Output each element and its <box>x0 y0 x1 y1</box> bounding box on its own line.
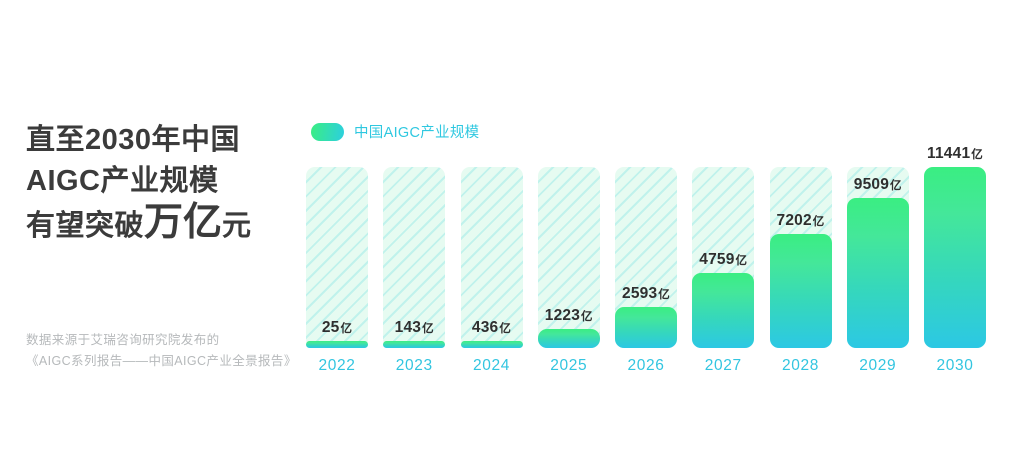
headline-line-1: 直至2030年中国 <box>26 120 291 161</box>
bar-fill[interactable] <box>461 341 523 348</box>
bar-value-label: 7202亿 <box>777 213 825 229</box>
bar-value-label: 9509亿 <box>854 177 902 193</box>
bar-value-number: 11441 <box>927 145 970 162</box>
headline-line-3: 有望突破 万亿 元 <box>26 202 291 247</box>
bar-value-number: 143 <box>395 319 421 336</box>
bar-group[interactable]: 436亿2024 <box>461 167 523 348</box>
bar-fill[interactable] <box>770 234 832 348</box>
bar-value-unit: 亿 <box>499 323 511 335</box>
bar-group[interactable]: 25亿2022 <box>306 167 368 348</box>
headline-block: 直至2030年中国 AIGC产业规模 有望突破 万亿 元 <box>26 120 291 247</box>
legend-label: 中国AIGC产业规模 <box>354 121 479 142</box>
bar-value-unit: 亿 <box>971 149 983 161</box>
bar-value-number: 4759 <box>699 251 734 268</box>
bar-value-label: 11441亿 <box>927 146 983 162</box>
bar-group[interactable]: 7202亿2028 <box>770 167 832 348</box>
headline-emphasis: 万亿 <box>144 202 222 243</box>
bar-value-unit: 亿 <box>658 289 670 301</box>
legend-swatch-icon <box>311 123 344 141</box>
bar-value-number: 9509 <box>854 176 889 193</box>
bar-year-label: 2029 <box>859 357 896 375</box>
bar-group[interactable]: 11441亿2030 <box>924 167 986 348</box>
bar-group[interactable]: 9509亿2029 <box>847 167 909 348</box>
source-line-2: 《AIGC系列报告——中国AIGC产业全景报告》 <box>26 351 316 372</box>
bar-year-label: 2030 <box>937 357 974 375</box>
bar-value-label: 436亿 <box>472 320 511 336</box>
source-line-1: 数据来源于艾瑞咨询研究院发布的 <box>26 330 316 351</box>
chart-legend[interactable]: 中国AIGC产业规模 <box>311 121 479 142</box>
bar-value-label: 25亿 <box>322 320 352 336</box>
bar-fill[interactable] <box>383 341 445 348</box>
bar-fill[interactable] <box>924 167 986 348</box>
bar-fill[interactable] <box>538 329 600 348</box>
bar-year-label: 2026 <box>628 357 665 375</box>
bar-value-label: 4759亿 <box>699 252 747 268</box>
bar-group[interactable]: 2593亿2026 <box>615 167 677 348</box>
headline-suffix: 元 <box>222 206 252 247</box>
bar-year-label: 2027 <box>705 357 742 375</box>
bar-group[interactable]: 143亿2023 <box>383 167 445 348</box>
source-note: 数据来源于艾瑞咨询研究院发布的 《AIGC系列报告——中国AIGC产业全景报告》 <box>26 330 316 372</box>
bar-value-unit: 亿 <box>736 255 748 267</box>
headline-prefix: 有望突破 <box>26 206 144 247</box>
bar-fill[interactable] <box>847 198 909 348</box>
bar-year-label: 2024 <box>473 357 510 375</box>
bar-value-unit: 亿 <box>890 180 902 192</box>
bar-value-unit: 亿 <box>340 323 352 335</box>
bar-fill[interactable] <box>615 307 677 348</box>
bar-value-unit: 亿 <box>422 323 434 335</box>
headline-line-2: AIGC产业规模 <box>26 161 291 202</box>
bar-value-number: 25 <box>322 319 340 336</box>
bar-value-number: 1223 <box>545 307 580 324</box>
bar-chart: 25亿2022143亿2023436亿20241223亿20252593亿202… <box>306 167 986 348</box>
bar-value-label: 2593亿 <box>622 286 670 302</box>
bar-value-unit: 亿 <box>581 311 593 323</box>
bar-value-number: 7202 <box>777 212 812 229</box>
bar-year-label: 2022 <box>319 357 356 375</box>
bar-fill[interactable] <box>692 273 754 348</box>
bar-value-unit: 亿 <box>813 216 825 228</box>
bar-fill[interactable] <box>306 341 368 348</box>
bar-group[interactable]: 4759亿2027 <box>692 167 754 348</box>
bar-group[interactable]: 1223亿2025 <box>538 167 600 348</box>
bar-year-label: 2025 <box>550 357 587 375</box>
bar-value-label: 1223亿 <box>545 308 593 324</box>
bar-year-label: 2023 <box>396 357 433 375</box>
bar-value-label: 143亿 <box>395 320 434 336</box>
bar-value-number: 2593 <box>622 285 657 302</box>
infographic-root: 直至2030年中国 AIGC产业规模 有望突破 万亿 元 数据来源于艾瑞咨询研究… <box>0 0 1010 450</box>
bar-value-number: 436 <box>472 319 498 336</box>
bar-year-label: 2028 <box>782 357 819 375</box>
